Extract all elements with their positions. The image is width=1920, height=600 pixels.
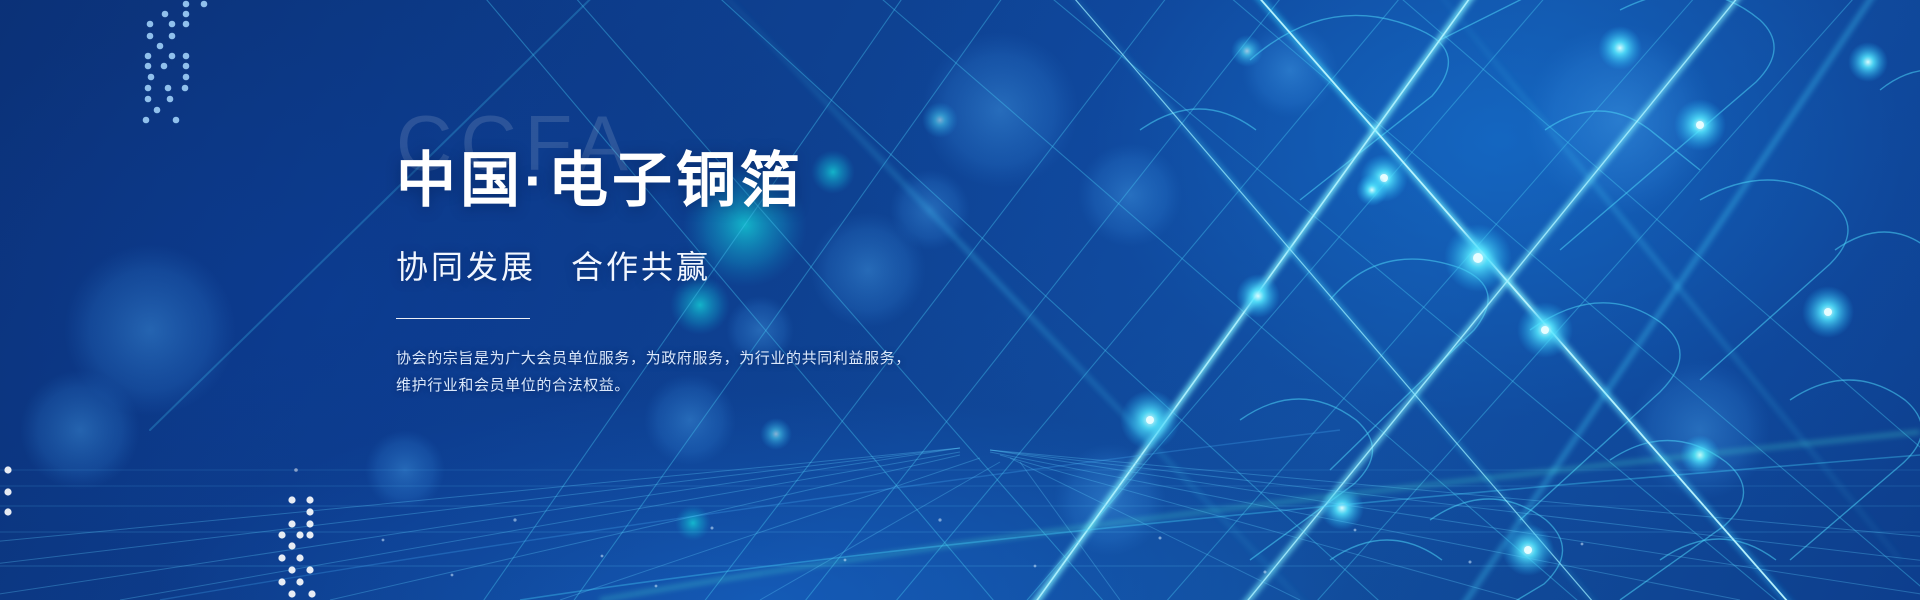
- page-subtitle: 协同发展 合作共赢: [396, 242, 1156, 288]
- speck-group: [382, 518, 1584, 587]
- dot-column-top-left: [143, 1, 208, 124]
- hero-text-block: CCFA 中国·电子铜箔 协同发展 合作共赢 协会的宗旨是为广大会员单位服务，为…: [396, 104, 1156, 400]
- dot-column-bottom-left: [4, 466, 315, 597]
- circuit-trace-group: [1140, 0, 1920, 600]
- page-description: 协会的宗旨是为广大会员单位服务，为政府服务，为行业的共同利益服务， 维护行业和会…: [396, 345, 1156, 401]
- floor-accent-curve: [160, 430, 1920, 600]
- description-line-2: 维护行业和会员单位的合法权益。: [396, 372, 1156, 400]
- perspective-floor-grid: [0, 448, 1920, 600]
- title-divider: [396, 318, 530, 319]
- description-line-1: 协会的宗旨是为广大会员单位服务，为政府服务，为行业的共同利益服务，: [396, 345, 1156, 373]
- page-title: 中国·电子铜箔: [396, 146, 1156, 216]
- hero-banner: CCFA 中国·电子铜箔 协同发展 合作共赢 协会的宗旨是为广大会员单位服务，为…: [0, 0, 1920, 600]
